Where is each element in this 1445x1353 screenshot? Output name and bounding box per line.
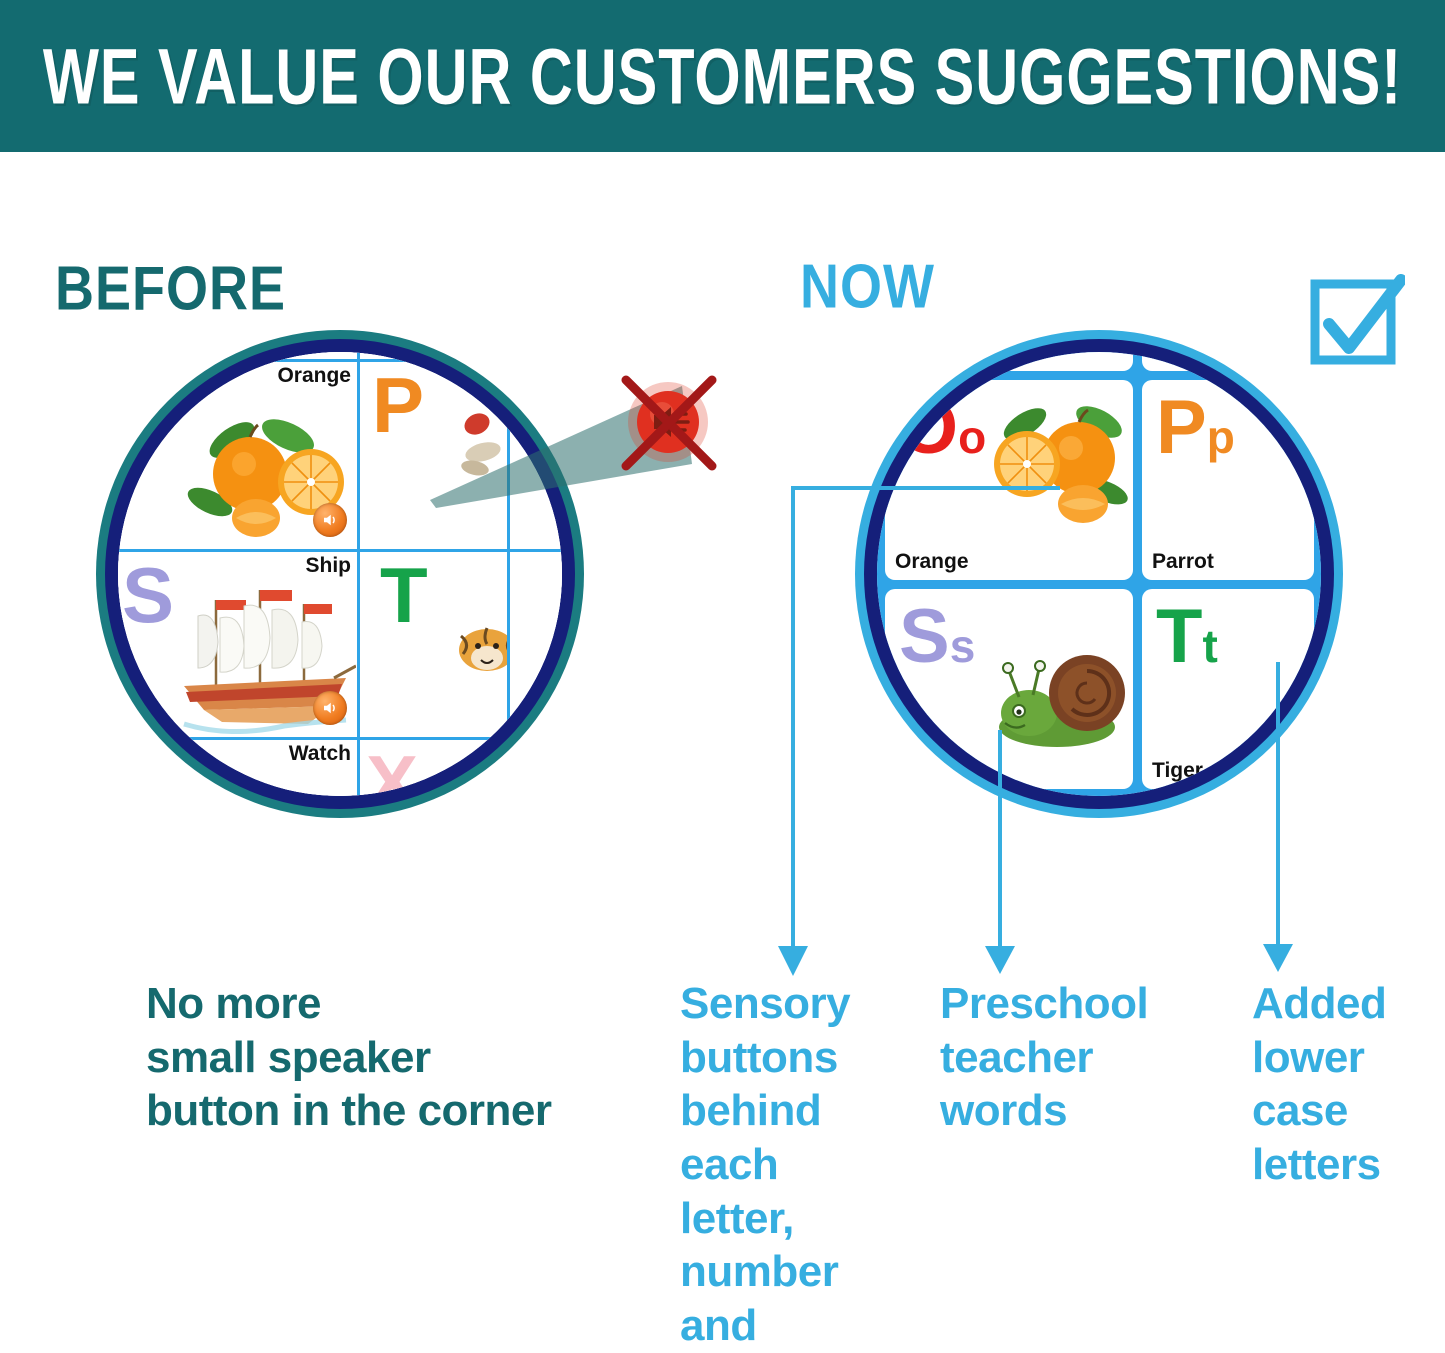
table-row: Orange O [118,362,360,552]
cell-letter: S [122,558,174,632]
tiger-image [453,622,510,678]
cell-letter: T [380,558,428,632]
arrowhead-1 [778,946,808,976]
caption-sensory-buttons: Sensory buttons behind each letter, numb… [680,977,850,1353]
connector-sensory-buttons [793,488,1060,942]
caption-lowercase-letters: Added lower case letters [1252,977,1386,1192]
table-row [510,740,562,796]
table-row [360,352,510,362]
table-row: T [360,552,510,740]
small-speaker-button[interactable] [313,691,347,725]
arrowhead-3 [1263,944,1293,972]
small-speaker-button[interactable] [313,503,347,537]
table-row [118,352,360,362]
wristwatch-image [196,790,346,796]
table-row [510,352,562,362]
cell-letter: W [122,746,196,796]
table-row: Watch W [118,740,360,796]
table-row [885,352,1133,371]
caption-before: No more small speaker button in the corn… [146,977,552,1138]
checkbox-checked-icon [1309,274,1405,372]
callout-connector-arrows [760,440,1360,980]
before-section-label: BEFORE [55,253,286,324]
arrowhead-2 [985,946,1015,974]
table-row: Ship S [118,552,360,740]
cell-word-label: Orange [277,364,351,388]
table-row [510,552,562,740]
cell-word-label: Ship [306,554,352,578]
table-row [1142,352,1314,371]
muted-speaker-crossed-out-icon [614,372,722,480]
table-row: X [360,740,510,796]
banner-title: WE VALUE OUR CUSTOMERS SUGGESTIONS! [43,30,1402,121]
poster-root: WE VALUE OUR CUSTOMERS SUGGESTIONS! BEFO… [0,0,1445,1353]
caption-preschool-words: Preschool teacher words [940,977,1148,1138]
cell-letter: P [372,368,424,442]
cell-word-label: Watch [289,742,351,766]
header-banner: WE VALUE OUR CUSTOMERS SUGGESTIONS! [0,0,1445,152]
cell-letter: O [122,368,183,442]
cell-letter: X [366,746,418,796]
now-section-label: NOW [800,251,935,322]
